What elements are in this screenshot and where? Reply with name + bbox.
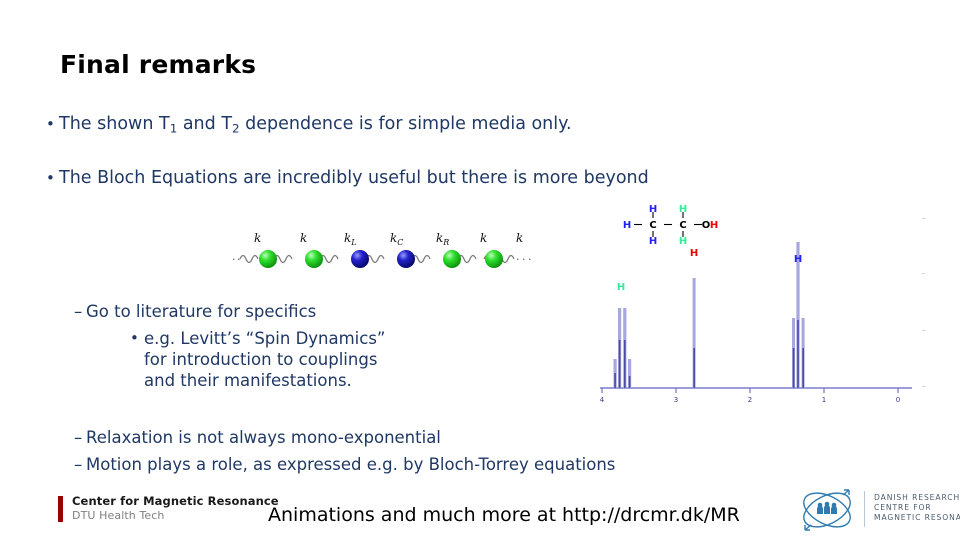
atom-h-hydroxyl: H xyxy=(710,220,718,231)
svg-text:·: · xyxy=(528,253,532,266)
bullet-marker: • xyxy=(46,167,59,189)
spring-label-2: k xyxy=(300,231,307,245)
peak-label-ch2: H xyxy=(617,282,625,293)
cmr-logo-line-1: Center for Magnetic Resonance xyxy=(72,494,279,508)
spring-label-3: kL xyxy=(344,231,357,247)
chain-ball-3 xyxy=(351,250,369,268)
bullet-1-sub-2: 2 xyxy=(232,121,240,135)
drcmr-logo: DANISH RESEARCH CENTRE FOR MAGNETIC RESO… xyxy=(796,487,952,533)
peak-label-ch3: H xyxy=(794,254,802,265)
drcmr-divider xyxy=(864,491,865,527)
spring-label-5: kR xyxy=(436,231,449,247)
atom-h-bottom-left: H xyxy=(649,236,657,247)
nmr-spectrum-figure: H C C O H H H H H 4 xyxy=(592,200,942,415)
drcmr-line-2: CENTRE FOR xyxy=(874,503,960,513)
bullet-2-text: The Bloch Equations are incredibly usefu… xyxy=(59,168,649,188)
atom-h-left: H xyxy=(623,220,631,231)
dash-marker: – xyxy=(74,427,86,449)
bullet-1-text-after: dependence is for simple media only. xyxy=(240,114,572,134)
bullet-marker: • xyxy=(46,113,59,135)
dash-marker: – xyxy=(74,454,86,476)
ethanol-molecule: H C C O H H H H H xyxy=(623,204,718,247)
drcmr-wordmark: DANISH RESEARCH CENTRE FOR MAGNETIC RESO… xyxy=(874,493,960,524)
sub-item-levitt-line-3: and their manifestations. xyxy=(144,370,385,391)
atom-h-top-left: H xyxy=(649,204,657,215)
peak-group-oh-singlet xyxy=(693,278,696,388)
sub-item-literature-label: Go to literature for specifics xyxy=(86,302,316,321)
x-tick-label-3: 3 xyxy=(674,396,678,404)
cmr-red-bar xyxy=(58,496,63,522)
chain-ball-1 xyxy=(259,250,277,268)
sub-item-relaxation: –Relaxation is not always mono-exponenti… xyxy=(74,427,441,449)
peak-group-ch2-quartet xyxy=(614,308,632,388)
x-tick-label-4: 4 xyxy=(600,396,605,404)
sub-item-motion-label: Motion plays a role, as expressed e.g. b… xyxy=(86,455,615,474)
atom-c1: C xyxy=(649,220,656,231)
sub-item-levitt: • e.g. Levitt’s “Spin Dynamics” for intr… xyxy=(144,328,385,391)
spring-label-4: kC xyxy=(390,231,403,247)
bullet-marker: • xyxy=(130,328,139,349)
bullet-1-text-before: The shown T xyxy=(59,114,170,134)
sub-item-levitt-line-1: e.g. Levitt’s “Spin Dynamics” xyxy=(144,328,385,349)
chain-ball-4 xyxy=(397,250,415,268)
sub-item-relaxation-label: Relaxation is not always mono-exponentia… xyxy=(86,428,441,447)
bullet-1-text-mid: and T xyxy=(177,114,232,134)
x-tick-label-0: 0 xyxy=(896,396,900,404)
svg-text:·: · xyxy=(237,253,241,266)
chain-right-ellipsis: · xyxy=(516,253,520,266)
sub-item-literature: –Go to literature for specifics xyxy=(74,301,316,323)
atom-h-bottom-right: H xyxy=(679,236,687,247)
chain-ball-5 xyxy=(443,250,461,268)
dash-marker: – xyxy=(74,301,86,323)
atom-c2: C xyxy=(679,220,686,231)
bullet-item-2: •The Bloch Equations are incredibly usef… xyxy=(46,167,649,189)
spring-label-6: k xyxy=(480,231,487,245)
spring-mass-chain-figure: · · · · · k k kL kC kR k k xyxy=(232,226,532,286)
spring-label-7: k xyxy=(516,231,523,245)
chain-ball-2 xyxy=(305,250,323,268)
spring-label-1: k xyxy=(254,231,261,245)
drcmr-line-3: MAGNETIC RESONANCE xyxy=(874,513,960,523)
drcmr-line-1: DANISH RESEARCH xyxy=(874,493,960,503)
atom-h-top-right: H xyxy=(679,204,687,215)
chain-ball-6 xyxy=(485,250,503,268)
x-tick-label-2: 2 xyxy=(748,396,752,404)
x-tick-label-1: 1 xyxy=(822,396,826,404)
cmr-logo-line-2: DTU Health Tech xyxy=(72,509,165,522)
drcmr-orbital-icon xyxy=(796,487,858,533)
sub-item-levitt-line-2: for introduction to couplings xyxy=(144,349,385,370)
peak-label-oh: H xyxy=(690,248,698,259)
page-title: Final remarks xyxy=(60,50,256,79)
slide-canvas: Final remarks •The shown T1 and T2 depen… xyxy=(0,0,960,540)
svg-text:·: · xyxy=(522,253,526,266)
footer-note: Animations and much more at http://drcmr… xyxy=(268,504,740,526)
sub-item-motion: –Motion plays a role, as expressed e.g. … xyxy=(74,454,615,476)
chain-left-ellipsis: · xyxy=(232,253,236,266)
bullet-item-1: •The shown T1 and T2 dependence is for s… xyxy=(46,113,572,139)
